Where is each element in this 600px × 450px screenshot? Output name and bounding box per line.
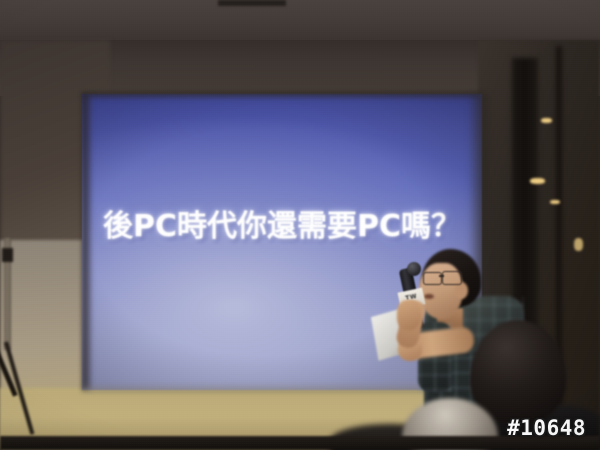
glasses-bridge [439, 275, 444, 277]
glasses-right-lens [442, 271, 462, 285]
photograph: 後PC時代你還需要PC嗎？ TW [0, 0, 600, 450]
microphone-head [407, 262, 421, 276]
watermark: #10648 [507, 416, 586, 440]
speaker-mouth [424, 294, 434, 299]
speaker-hand-holding-microphone [397, 300, 421, 330]
glasses-left-lens [423, 272, 442, 285]
